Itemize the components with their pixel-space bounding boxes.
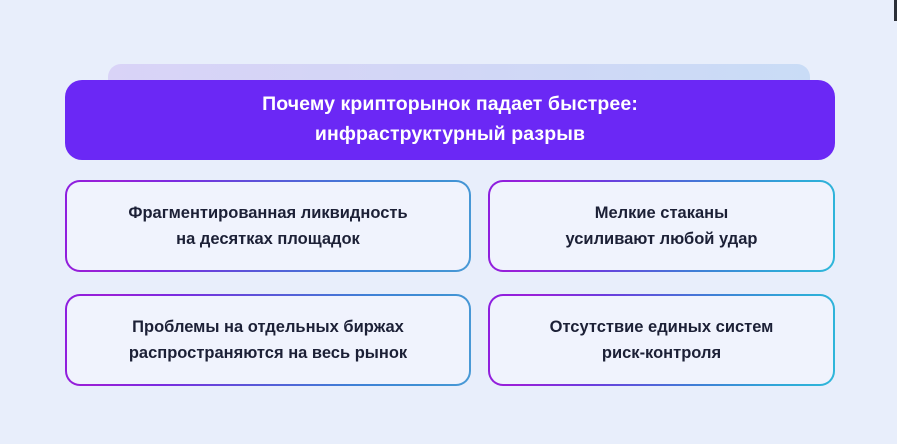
fact-card-body: Проблемы на отдельных биржах распростран…: [67, 296, 469, 384]
fact-card-body: Отсутствие единых систем риск-контроля: [490, 296, 833, 384]
infographic-slide: Почему крипторынок падает быстрее: инфра…: [0, 0, 897, 444]
header-banner: Почему крипторынок падает быстрее: инфра…: [65, 80, 835, 160]
fact-card-label: Фрагментированная ликвидность на десятка…: [128, 200, 407, 252]
page-title: Почему крипторынок падает быстрее: инфра…: [262, 90, 638, 149]
fact-card-label: Мелкие стаканы усиливают любой удар: [565, 200, 757, 252]
fact-card-body: Фрагментированная ликвидность на десятка…: [67, 182, 469, 270]
fact-card-label: Проблемы на отдельных биржах распростран…: [129, 314, 407, 366]
fact-card-no-unified-risk-control: Отсутствие единых систем риск-контроля: [488, 294, 835, 386]
fact-card-body: Мелкие стаканы усиливают любой удар: [490, 182, 833, 270]
fact-card-exchange-contagion: Проблемы на отдельных биржах распростран…: [65, 294, 471, 386]
fact-card-fragmented-liquidity: Фрагментированная ликвидность на десятка…: [65, 180, 471, 272]
fact-card-grid: Фрагментированная ликвидность на десятка…: [65, 180, 835, 385]
fact-card-thin-order-books: Мелкие стаканы усиливают любой удар: [488, 180, 835, 272]
fact-card-label: Отсутствие единых систем риск-контроля: [550, 314, 774, 366]
